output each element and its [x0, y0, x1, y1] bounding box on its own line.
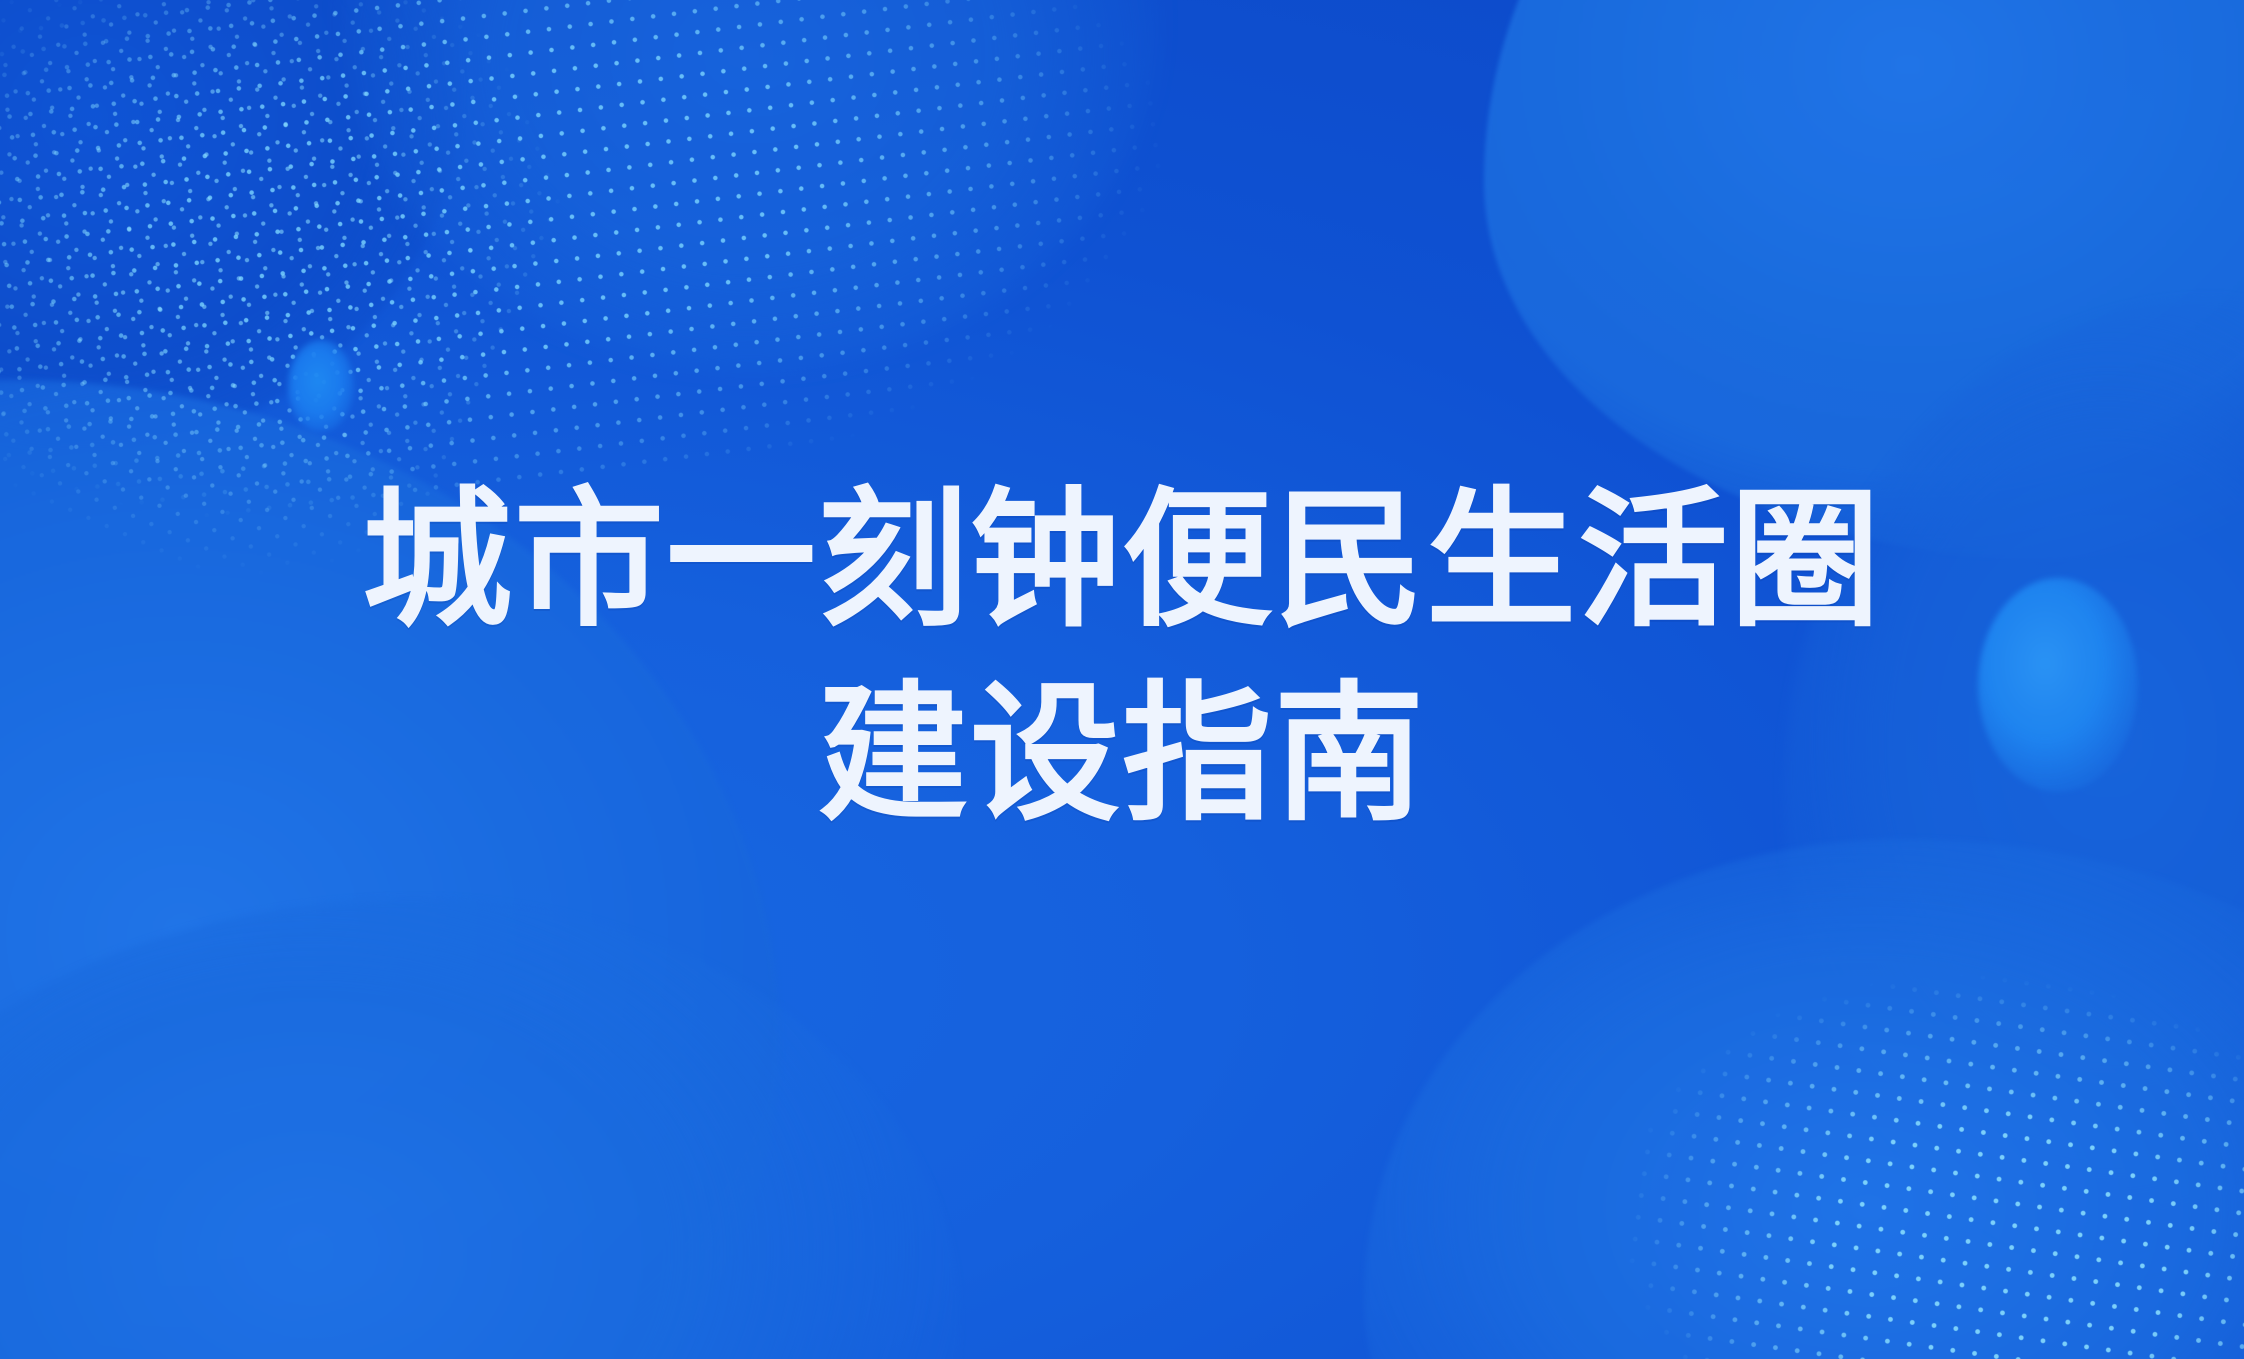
poster-canvas: 城市一刻钟便民生活圈 建设指南	[0, 0, 2244, 1359]
title-line-2: 建设指南	[0, 664, 2244, 844]
page-title: 城市一刻钟便民生活圈 建设指南	[0, 470, 2244, 844]
title-line-1: 城市一刻钟便民生活圈	[0, 470, 2244, 650]
